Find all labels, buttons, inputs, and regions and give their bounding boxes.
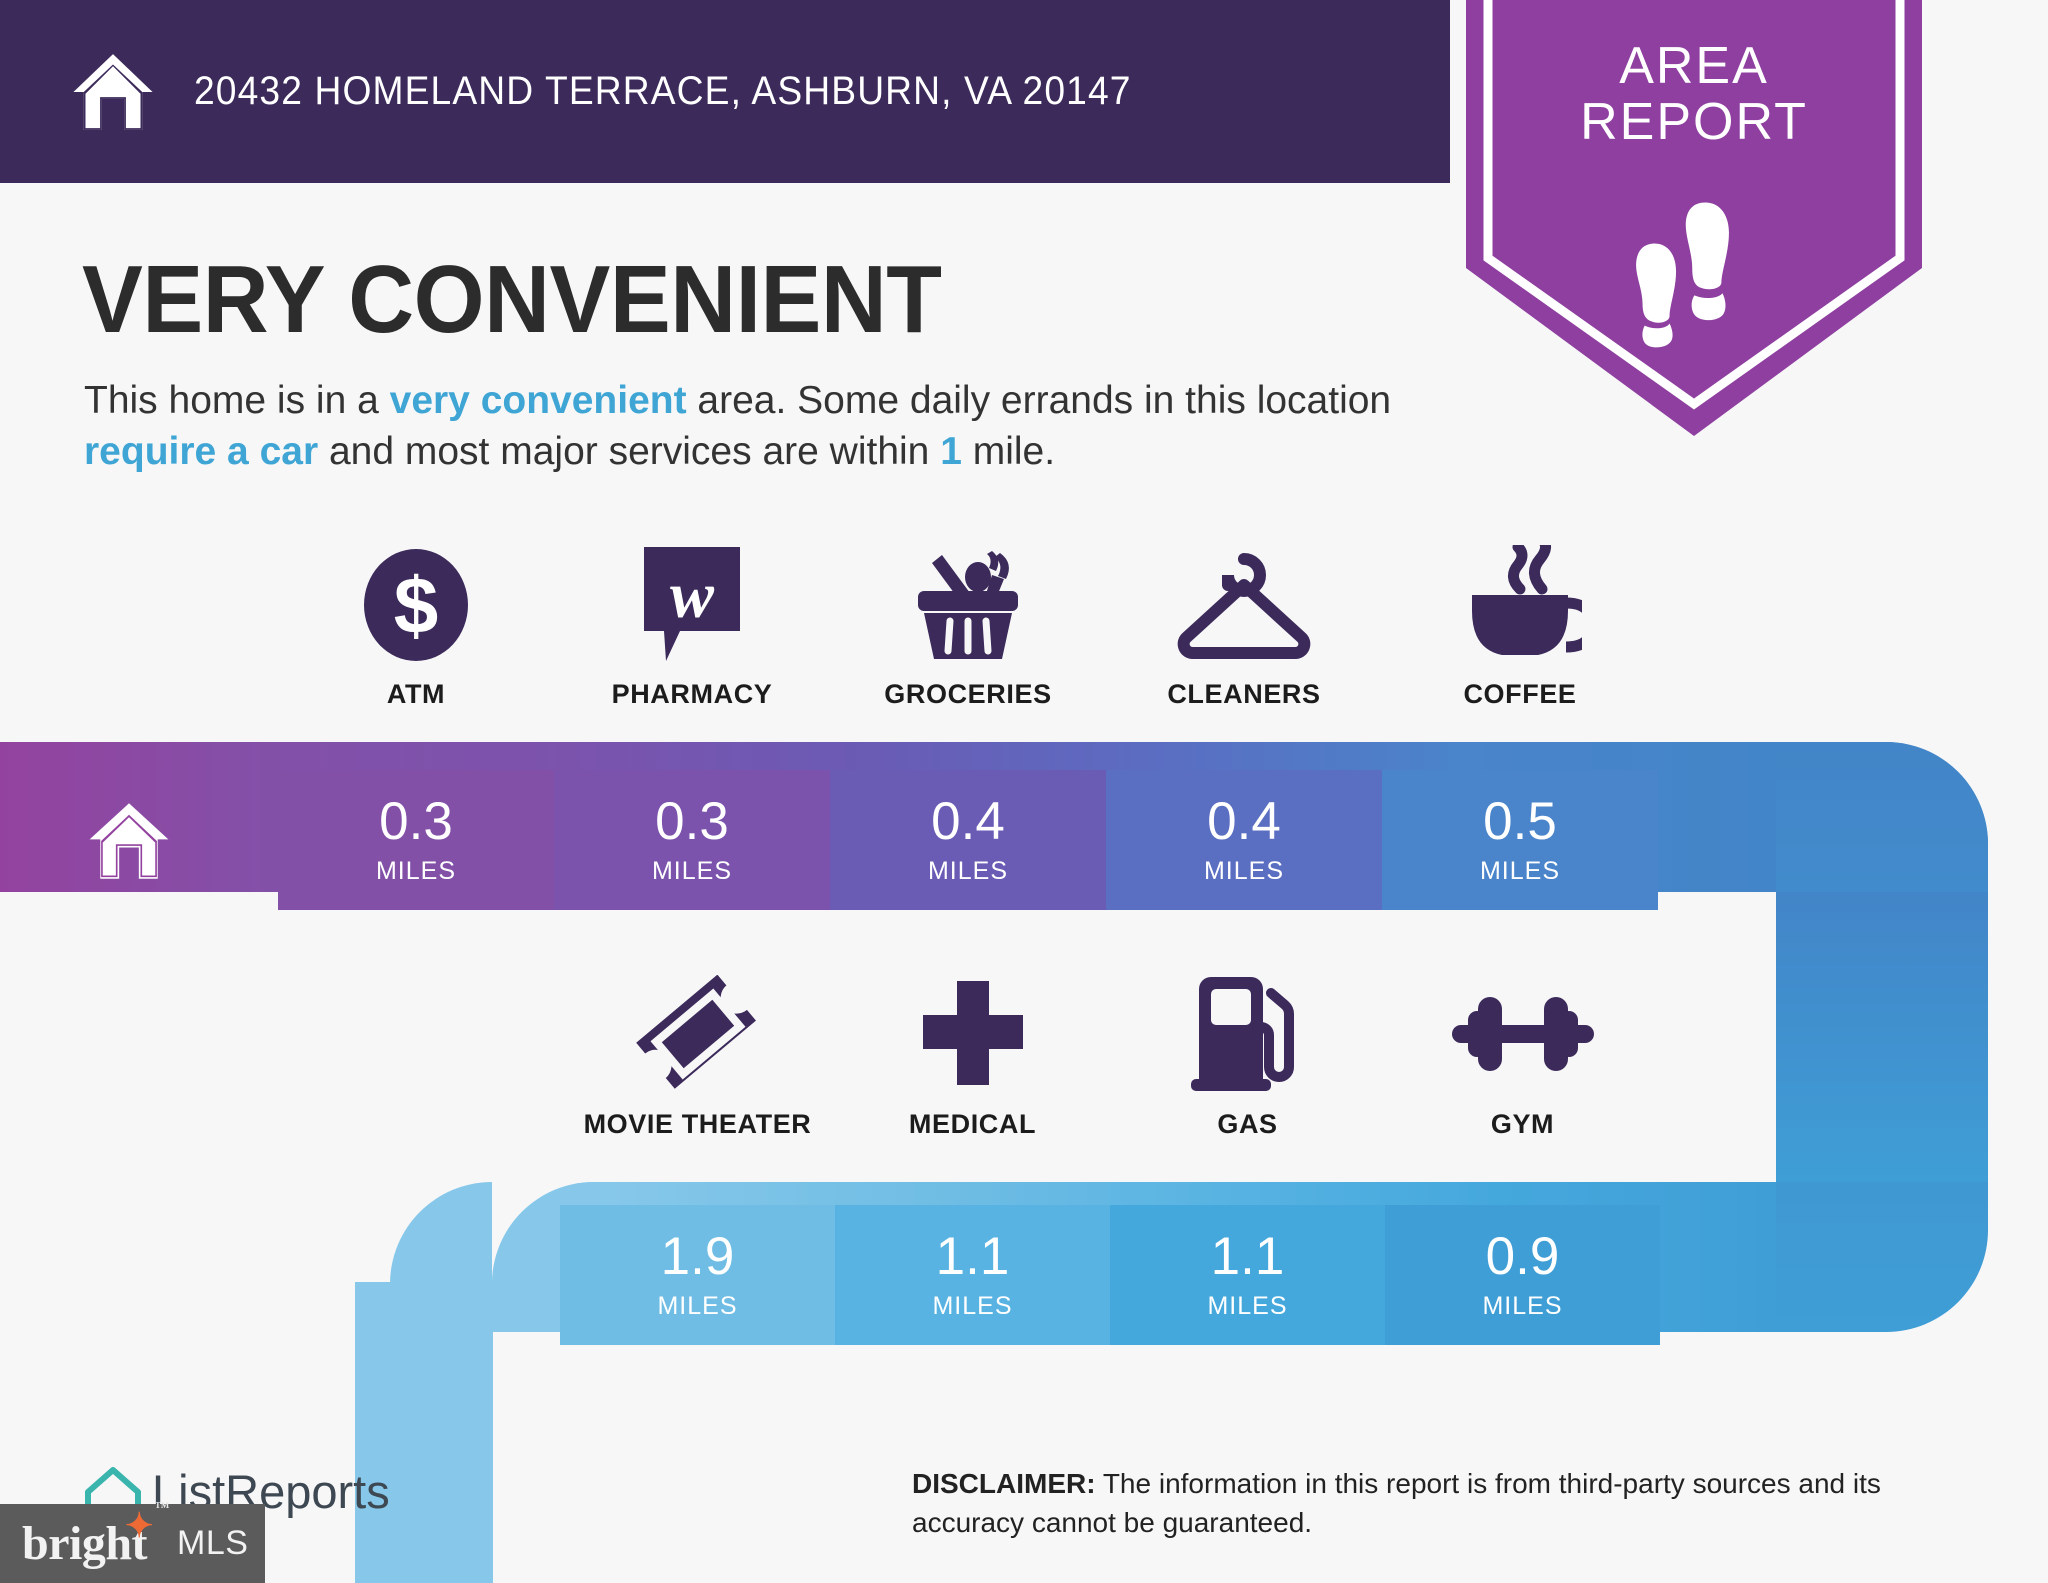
home-marker-icon bbox=[88, 800, 170, 880]
distance-value: 0.5 bbox=[1483, 795, 1557, 848]
distance-gas: 1.1 MILES bbox=[1110, 1205, 1385, 1345]
desc-part-4: mile. bbox=[962, 430, 1055, 473]
service-gas: GAS bbox=[1110, 975, 1385, 1140]
distance-movie-theater: 1.9 MILES bbox=[560, 1205, 835, 1345]
distance-pharmacy: 0.3 MILES bbox=[554, 770, 830, 910]
service-label: GYM bbox=[1491, 1109, 1554, 1140]
trademark-mark: ™ bbox=[155, 1500, 170, 1517]
distance-value: 0.9 bbox=[1486, 1230, 1560, 1283]
mls-wordmark: MLS bbox=[177, 1524, 248, 1563]
distance-atm: 0.3 MILES bbox=[278, 770, 554, 910]
service-label: PHARMACY bbox=[612, 679, 773, 710]
movie-ticket-icon bbox=[635, 975, 761, 1093]
service-medical: MEDICAL bbox=[835, 975, 1110, 1140]
distance-value: 0.3 bbox=[655, 795, 729, 848]
track-tail bbox=[355, 1282, 493, 1583]
bright-wordmark: bright ✦ ™ bbox=[22, 1516, 147, 1571]
distance-value: 1.1 bbox=[1211, 1230, 1285, 1283]
distance-groceries: 0.4 MILES bbox=[830, 770, 1106, 910]
service-icon-row-1: $ ATM w PHARMACY bbox=[278, 545, 1658, 710]
description-text: This home is in a very convenient area. … bbox=[84, 375, 1454, 478]
dollar-circle-icon: $ bbox=[362, 545, 470, 663]
grocery-basket-icon bbox=[908, 545, 1028, 663]
distance-unit: MILES bbox=[1204, 857, 1284, 886]
distance-coffee: 0.5 MILES bbox=[1382, 770, 1658, 910]
service-label: COFFEE bbox=[1463, 679, 1576, 710]
distance-unit: MILES bbox=[1207, 1292, 1287, 1321]
distance-value: 1.1 bbox=[936, 1230, 1010, 1283]
service-cleaners: CLEANERS bbox=[1106, 545, 1382, 710]
service-label: MEDICAL bbox=[909, 1109, 1036, 1140]
distance-gym: 0.9 MILES bbox=[1385, 1205, 1660, 1345]
distance-unit: MILES bbox=[657, 1292, 737, 1321]
service-label: GROCERIES bbox=[884, 679, 1051, 710]
service-label: MOVIE THEATER bbox=[584, 1109, 812, 1140]
distance-unit: MILES bbox=[932, 1292, 1012, 1321]
medical-cross-icon bbox=[917, 975, 1029, 1093]
service-atm: $ ATM bbox=[278, 545, 554, 710]
desc-part-2: area. Some daily errands in this locatio… bbox=[687, 379, 1392, 422]
distance-unit: MILES bbox=[376, 857, 456, 886]
coffee-cup-icon bbox=[1458, 545, 1582, 663]
desc-part-3: and most major services are within bbox=[318, 430, 940, 473]
service-gym: GYM bbox=[1385, 975, 1660, 1140]
service-label: ATM bbox=[387, 679, 445, 710]
dumbbell-icon bbox=[1450, 975, 1596, 1093]
hanger-icon bbox=[1171, 545, 1317, 663]
bright-mls-watermark: bright ✦ ™ MLS bbox=[0, 1504, 265, 1583]
page-title: VERY CONVENIENT bbox=[82, 245, 941, 355]
disclaimer-label: DISCLAIMER: bbox=[912, 1468, 1096, 1499]
service-icon-row-2: MOVIE THEATER MEDICAL GAS bbox=[560, 975, 1660, 1140]
distance-unit: MILES bbox=[652, 857, 732, 886]
desc-highlight-miles: 1 bbox=[940, 430, 962, 473]
distance-unit: MILES bbox=[1480, 857, 1560, 886]
distance-value: 0.3 bbox=[379, 795, 453, 848]
distance-unit: MILES bbox=[1482, 1292, 1562, 1321]
home-icon bbox=[70, 49, 156, 135]
gas-pump-icon bbox=[1187, 975, 1309, 1093]
star-icon: ✦ bbox=[125, 1510, 153, 1544]
property-address: 20432 HOMELAND TERRACE, ASHBURN, VA 2014… bbox=[194, 69, 1132, 114]
distance-unit: MILES bbox=[928, 857, 1008, 886]
desc-highlight-car: require a car bbox=[84, 430, 318, 473]
desc-highlight-convenient: very convenient bbox=[390, 379, 687, 422]
service-pharmacy: w PHARMACY bbox=[554, 545, 830, 710]
service-groceries: GROCERIES bbox=[830, 545, 1106, 710]
distance-row-2: 1.9 MILES 1.1 MILES 1.1 MILES 0.9 MILES bbox=[560, 1205, 1660, 1345]
distance-value: 0.4 bbox=[1207, 795, 1281, 848]
distance-cleaners: 0.4 MILES bbox=[1106, 770, 1382, 910]
svg-text:$: $ bbox=[394, 561, 439, 650]
service-label: GAS bbox=[1217, 1109, 1277, 1140]
distance-row-1: 0.3 MILES 0.3 MILES 0.4 MILES 0.4 MILES … bbox=[278, 770, 1658, 910]
service-label: CLEANERS bbox=[1167, 679, 1320, 710]
svg-text:w: w bbox=[670, 559, 715, 632]
distance-value: 1.9 bbox=[661, 1230, 735, 1283]
service-coffee: COFFEE bbox=[1382, 545, 1658, 710]
header-bar: 20432 HOMELAND TERRACE, ASHBURN, VA 2014… bbox=[0, 0, 1450, 183]
desc-part-1: This home is in a bbox=[84, 379, 390, 422]
walgreens-w-icon: w bbox=[636, 545, 748, 663]
disclaimer: DISCLAIMER: The information in this repo… bbox=[912, 1465, 1992, 1542]
distance-value: 0.4 bbox=[931, 795, 1005, 848]
area-report-badge: AREA REPORT bbox=[1466, 0, 1922, 436]
service-movie-theater: MOVIE THEATER bbox=[560, 975, 835, 1140]
distance-medical: 1.1 MILES bbox=[835, 1205, 1110, 1345]
